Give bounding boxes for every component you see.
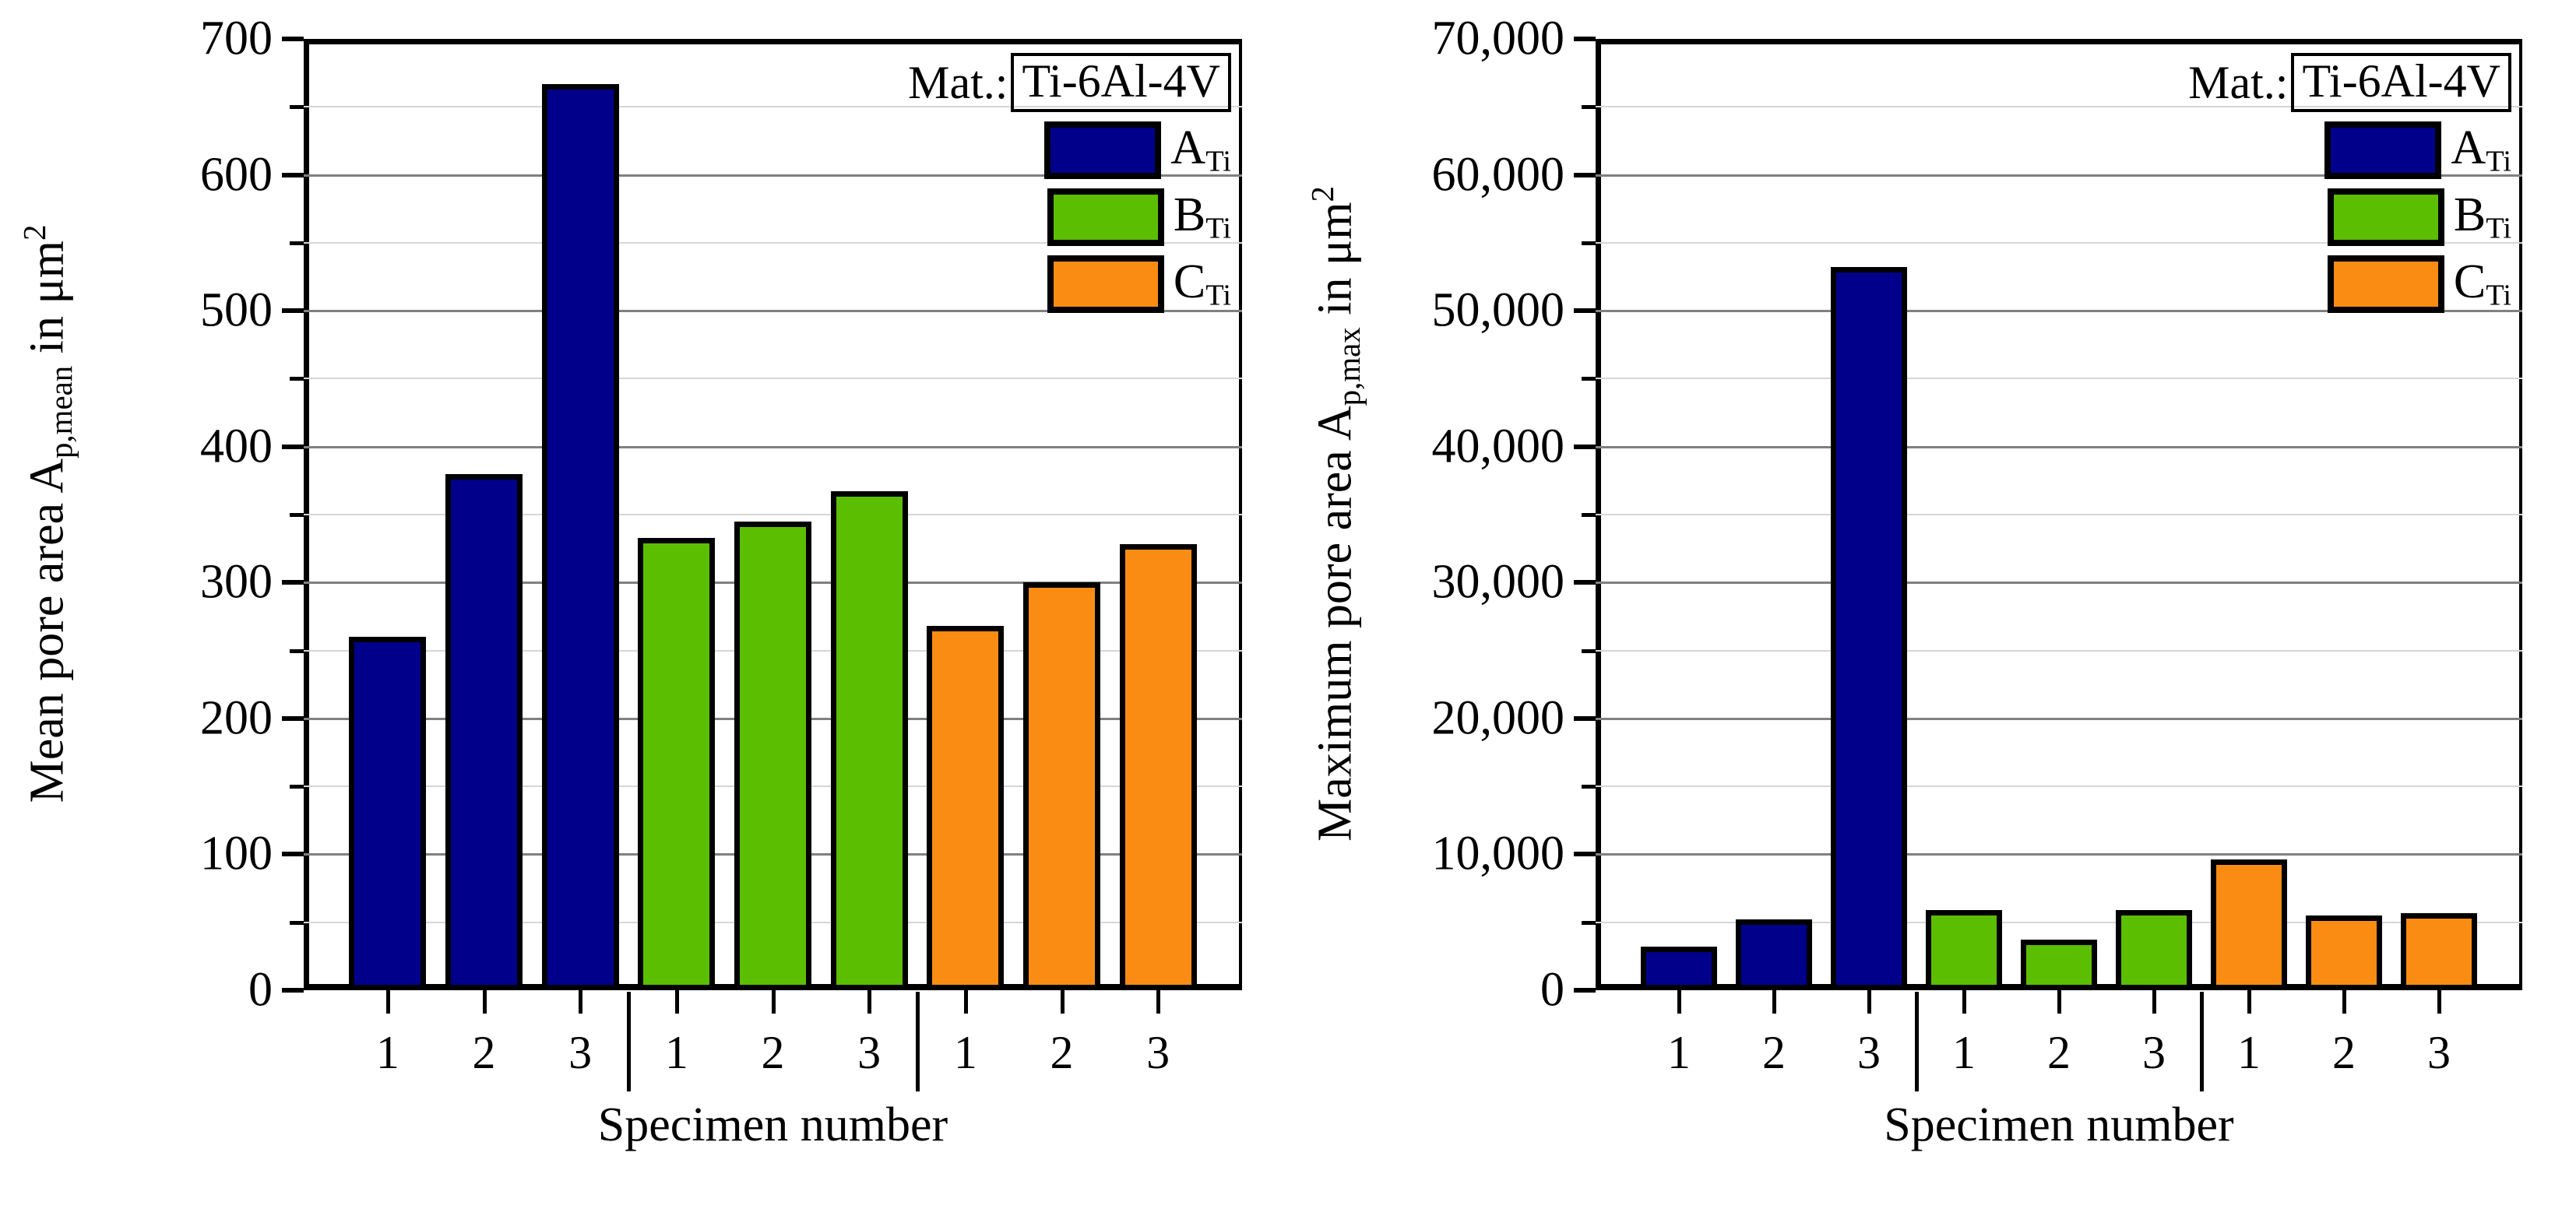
x-tick-label: 3: [2142, 1026, 2166, 1080]
group-separator: [1915, 992, 1919, 1091]
plot-area-left: 0100200300400500600700123123123Mat.:Ti-6…: [304, 39, 1242, 990]
legend-swatch-c: [1047, 255, 1164, 313]
x-tick: [1867, 990, 1871, 1014]
y-axis-label-right: Maximum pore area Ap,max in μm2: [1288, 16, 1358, 1012]
legend-swatch-a: [1044, 121, 1161, 179]
legend-label-main: B: [2454, 188, 2486, 241]
x-tick: [1962, 990, 1966, 1014]
axis-top: [1596, 39, 2522, 44]
legend-label: ATi: [2451, 124, 2511, 177]
gridline-minor: [1596, 785, 2522, 787]
gridline-minor: [1596, 650, 2522, 652]
legend-label: ATi: [1170, 124, 1231, 177]
bar: [542, 84, 619, 990]
y-tick-label: 0: [248, 963, 273, 1018]
bar: [1926, 910, 2002, 990]
x-tick: [1156, 990, 1160, 1014]
x-tick-label: 1: [376, 1026, 399, 1080]
bar: [1120, 544, 1197, 990]
y-tick-major: [282, 308, 304, 313]
y-tick-label: 100: [200, 827, 273, 882]
x-axis-label-left: Specimen number: [304, 1098, 1242, 1153]
legend-material-prefix: Mat.:: [2188, 56, 2288, 110]
y-tick-minor: [1582, 513, 1596, 517]
y-tick-label: 60,000: [1432, 147, 1565, 202]
y-tick-major: [1574, 580, 1596, 585]
legend-swatch-a: [2324, 121, 2441, 179]
x-tick: [2437, 990, 2441, 1014]
y-tick-major: [282, 852, 304, 856]
y-tick-major: [1574, 173, 1596, 177]
y-axis-label-left-pre: Mean pore area A: [21, 459, 74, 803]
gridline-major: [1596, 582, 2522, 584]
legend: Mat.:Ti-6Al-4VATiBTiCTi: [908, 53, 1231, 313]
x-tick: [964, 990, 968, 1014]
y-tick-label: 400: [200, 419, 273, 474]
y-tick-minor: [1582, 377, 1596, 381]
x-tick-label: 3: [2427, 1026, 2451, 1080]
y-tick-label: 0: [1540, 963, 1564, 1018]
legend-item[interactable]: CTi: [1047, 255, 1231, 313]
bar: [2116, 910, 2192, 990]
y-tick-minor: [1582, 921, 1596, 925]
x-tick: [675, 990, 679, 1014]
y-axis-label-right-pre: Maximum pore area A: [1309, 406, 1362, 842]
gridline-major: [1596, 446, 2522, 448]
legend-label-main: C: [2454, 255, 2486, 308]
gridline-minor: [304, 378, 1242, 379]
legend-label: CTi: [1174, 258, 1231, 311]
x-tick-label: 2: [762, 1026, 785, 1080]
bar: [1641, 947, 1717, 990]
legend-item[interactable]: BTi: [2328, 188, 2511, 246]
gridline-major: [304, 446, 1242, 448]
y-tick-major: [282, 580, 304, 585]
x-tick: [2342, 990, 2346, 1014]
y-tick-major: [1574, 308, 1596, 313]
group-separator: [627, 992, 631, 1091]
bar: [2021, 940, 2097, 990]
legend-label-subscript: Ti: [2486, 146, 2511, 178]
bar: [927, 626, 1004, 990]
y-tick-minor: [1582, 649, 1596, 653]
legend-label-subscript: Ti: [2486, 213, 2511, 245]
plot-area-right: 010,00020,00030,00040,00050,00060,00070,…: [1596, 39, 2522, 990]
y-tick-label: 200: [200, 691, 273, 746]
y-tick-minor: [290, 785, 304, 789]
legend-item[interactable]: ATi: [2324, 121, 2511, 179]
x-tick-label: 3: [857, 1026, 881, 1080]
y-axis-label-left-sup: 2: [17, 225, 52, 241]
legend-item[interactable]: ATi: [1044, 121, 1231, 179]
y-tick-label: 300: [200, 555, 273, 610]
y-tick-minor: [290, 513, 304, 517]
y-tick-major: [282, 988, 304, 993]
bar: [2306, 915, 2382, 990]
bar: [1736, 919, 1812, 990]
y-tick-label: 40,000: [1432, 419, 1565, 474]
bar: [638, 538, 715, 990]
y-tick-major: [282, 173, 304, 177]
legend-material-value: Ti-6Al-4V: [1011, 53, 1231, 112]
y-tick-major: [1574, 445, 1596, 449]
bar: [831, 491, 908, 990]
legend-label-main: A: [1170, 121, 1205, 174]
x-tick: [386, 990, 390, 1014]
y-tick-minor: [290, 241, 304, 245]
y-tick-label: 700: [200, 12, 273, 67]
legend-label-subscript: Ti: [2486, 279, 2511, 312]
bar: [2401, 913, 2477, 991]
x-tick-label: 2: [473, 1026, 496, 1080]
x-tick: [2057, 990, 2061, 1014]
x-tick: [1061, 990, 1065, 1014]
y-tick-label: 20,000: [1432, 691, 1565, 746]
bar: [445, 474, 523, 990]
x-tick: [1772, 990, 1776, 1014]
gridline-minor: [304, 514, 1242, 515]
bar: [734, 522, 811, 990]
y-tick-label: 30,000: [1432, 555, 1565, 610]
y-tick-major: [1574, 988, 1596, 993]
legend-swatch-b: [1047, 188, 1164, 246]
x-tick: [2152, 990, 2156, 1014]
y-tick-major: [282, 37, 304, 41]
y-axis-label-left-mid: in μm: [21, 241, 74, 366]
y-tick-label: 10,000: [1432, 827, 1565, 882]
legend-swatch-c: [2328, 255, 2444, 313]
gridline-minor: [1596, 922, 2522, 923]
chart-panel-left: Mean pore area Ap,mean in μm2 0100200300…: [0, 0, 1288, 1223]
x-tick-label: 2: [1050, 1026, 1074, 1080]
x-tick-label: 2: [1762, 1026, 1786, 1080]
x-tick-label: 2: [2332, 1026, 2356, 1080]
chart-panel-right: Maximum pore area Ap,max in μm2 010,0002…: [1288, 0, 2576, 1223]
x-tick-label: 2: [2047, 1026, 2071, 1080]
legend: Mat.:Ti-6Al-4VATiBTiCTi: [2188, 53, 2511, 313]
legend-material-title: Mat.:Ti-6Al-4V: [908, 53, 1231, 112]
y-tick-minor: [1582, 105, 1596, 109]
y-axis-label-left: Mean pore area Ap,mean in μm2: [0, 16, 70, 1012]
y-axis-label-right-sub: p,max: [1332, 327, 1367, 406]
bar: [1023, 582, 1100, 990]
x-tick-label: 1: [665, 1026, 688, 1080]
y-tick-label: 600: [200, 147, 273, 202]
x-axis-label-right: Specimen number: [1596, 1098, 2522, 1153]
legend-material-prefix: Mat.:: [908, 56, 1008, 110]
gridline-minor: [1596, 514, 2522, 515]
x-tick: [772, 990, 776, 1014]
y-tick-major: [282, 716, 304, 721]
gridline-major: [1596, 718, 2522, 720]
x-tick-label: 3: [1857, 1026, 1881, 1080]
y-tick-minor: [1582, 241, 1596, 245]
y-tick-major: [282, 445, 304, 449]
y-axis-label-right-mid: in μm: [1309, 202, 1362, 328]
legend-material-title: Mat.:Ti-6Al-4V: [2188, 53, 2511, 112]
x-tick-label: 1: [1952, 1026, 1976, 1080]
y-tick-minor: [290, 105, 304, 109]
x-tick-label: 1: [1667, 1026, 1691, 1080]
legend-label: BTi: [2454, 191, 2511, 244]
y-tick-label: 50,000: [1432, 283, 1565, 339]
x-tick: [867, 990, 871, 1014]
x-tick: [2247, 990, 2251, 1014]
legend-item[interactable]: CTi: [2328, 255, 2511, 313]
bar: [2211, 859, 2287, 990]
group-separator: [916, 992, 920, 1091]
x-tick-label: 1: [954, 1026, 977, 1080]
axis-top: [304, 39, 1242, 44]
legend-label-subscript: Ti: [1205, 146, 1231, 178]
y-tick-minor: [290, 377, 304, 381]
gridline-major: [1596, 853, 2522, 856]
legend-label-main: A: [2451, 121, 2486, 174]
y-axis-label-left-sub: p,mean: [44, 366, 79, 459]
y-tick-minor: [290, 649, 304, 653]
x-tick-label: 3: [568, 1026, 592, 1080]
gridline-minor: [1596, 378, 2522, 379]
x-tick: [483, 990, 487, 1014]
y-tick-major: [1574, 37, 1596, 41]
y-tick-major: [1574, 716, 1596, 721]
legend-swatch-b: [2328, 188, 2444, 246]
legend-material-value: Ti-6Al-4V: [2291, 53, 2511, 112]
y-tick-label: 500: [200, 283, 273, 339]
legend-item[interactable]: BTi: [1047, 188, 1231, 246]
bar: [349, 637, 426, 990]
x-tick: [1677, 990, 1681, 1014]
legend-label-main: C: [1174, 255, 1205, 308]
bar: [1831, 267, 1907, 990]
y-axis-label-right-sup: 2: [1305, 186, 1340, 202]
y-tick-minor: [1582, 785, 1596, 789]
legend-label-subscript: Ti: [1205, 279, 1231, 312]
group-separator: [2200, 992, 2204, 1091]
legend-label: CTi: [2454, 258, 2511, 311]
legend-label-main: B: [1174, 188, 1205, 241]
legend-label: BTi: [1174, 191, 1231, 244]
y-tick-label: 70,000: [1432, 12, 1565, 67]
x-tick-label: 3: [1146, 1026, 1170, 1080]
y-tick-minor: [290, 921, 304, 925]
x-tick: [579, 990, 582, 1014]
x-tick-label: 1: [2237, 1026, 2261, 1080]
figure-root: Mean pore area Ap,mean in μm2 0100200300…: [0, 0, 2576, 1223]
y-tick-major: [1574, 852, 1596, 856]
legend-label-subscript: Ti: [1205, 213, 1231, 245]
